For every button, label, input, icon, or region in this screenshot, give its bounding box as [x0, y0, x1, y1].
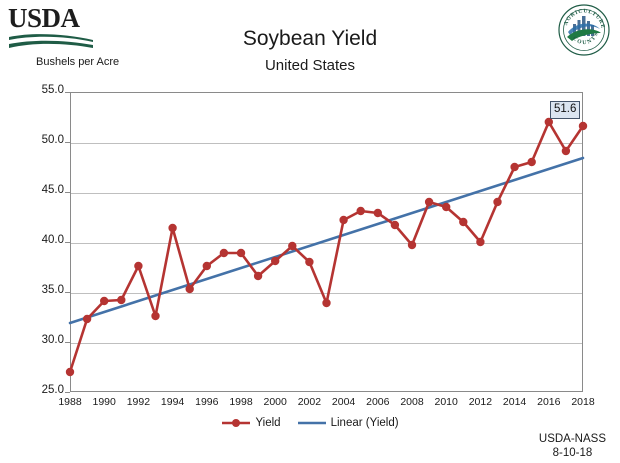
data-point	[528, 158, 536, 166]
legend-marker-linear-yield-icon	[297, 417, 327, 429]
data-point	[100, 297, 108, 305]
legend-marker-yield-icon	[221, 417, 251, 429]
y-tick-label: 45.0	[42, 184, 64, 196]
data-point	[391, 221, 399, 229]
x-tick-label: 1998	[229, 396, 252, 408]
data-point	[220, 249, 228, 257]
legend-item-yield: Yield	[221, 417, 280, 429]
data-point	[459, 218, 467, 226]
legend-label-linear-yield: Linear (Yield)	[331, 417, 399, 429]
y-tick-label: 35.0	[42, 284, 64, 296]
data-point	[442, 203, 450, 211]
data-point	[339, 216, 347, 224]
data-point	[168, 224, 176, 232]
legend-item-linear-yield: Linear (Yield)	[297, 417, 399, 429]
last-value-callout: 51.6	[550, 101, 580, 119]
chart-plot-area: 55.050.045.040.035.030.025.0 19881990199…	[0, 0, 620, 463]
data-point	[545, 118, 553, 126]
x-tick-label: 2010	[435, 396, 458, 408]
data-point	[425, 198, 433, 206]
chart-legend: Yield Linear (Yield)	[0, 417, 620, 429]
x-tick-label: 1996	[195, 396, 218, 408]
x-tick-label: 2018	[571, 396, 594, 408]
y-tick-label: 55.0	[42, 84, 64, 96]
footer-agency: USDA-NASS	[539, 432, 606, 446]
data-point	[134, 262, 142, 270]
x-tick-label: 1994	[161, 396, 184, 408]
footer-credit: USDA-NASS 8-10-18	[539, 432, 606, 460]
data-point	[305, 258, 313, 266]
data-point	[83, 315, 91, 323]
y-tick-label: 50.0	[42, 134, 64, 146]
x-tick-label: 2006	[366, 396, 389, 408]
legend-label-yield: Yield	[255, 417, 280, 429]
footer-date: 8-10-18	[539, 446, 606, 460]
data-point	[288, 242, 296, 250]
data-point	[493, 198, 501, 206]
data-point	[237, 249, 245, 257]
y-tick-mark	[65, 392, 70, 393]
data-point	[408, 241, 416, 249]
y-tick-label: 30.0	[42, 334, 64, 346]
series-markers-yield	[66, 118, 587, 376]
data-point	[322, 299, 330, 307]
x-tick-label: 2016	[537, 396, 560, 408]
data-point	[186, 285, 194, 293]
y-tick-label: 40.0	[42, 234, 64, 246]
y-tick-label: 25.0	[42, 384, 64, 396]
data-point	[151, 312, 159, 320]
x-tick-label: 1990	[93, 396, 116, 408]
data-point	[254, 272, 262, 280]
x-tick-label: 2012	[469, 396, 492, 408]
data-point	[562, 147, 570, 155]
data-point	[476, 238, 484, 246]
data-point	[271, 257, 279, 265]
x-tick-label: 2000	[264, 396, 287, 408]
x-tick-label: 2002	[298, 396, 321, 408]
data-point	[374, 209, 382, 217]
series-layer	[70, 92, 583, 392]
x-tick-label: 2014	[503, 396, 526, 408]
data-point	[510, 163, 518, 171]
data-point	[579, 122, 587, 130]
x-tick-label: 2008	[400, 396, 423, 408]
x-tick-label: 1988	[58, 396, 81, 408]
x-tick-label: 2004	[332, 396, 355, 408]
data-point	[357, 207, 365, 215]
series-line-yield	[70, 122, 583, 372]
x-tick-label: 1992	[127, 396, 150, 408]
data-point	[117, 296, 125, 304]
data-point	[203, 262, 211, 270]
data-point	[66, 368, 74, 376]
